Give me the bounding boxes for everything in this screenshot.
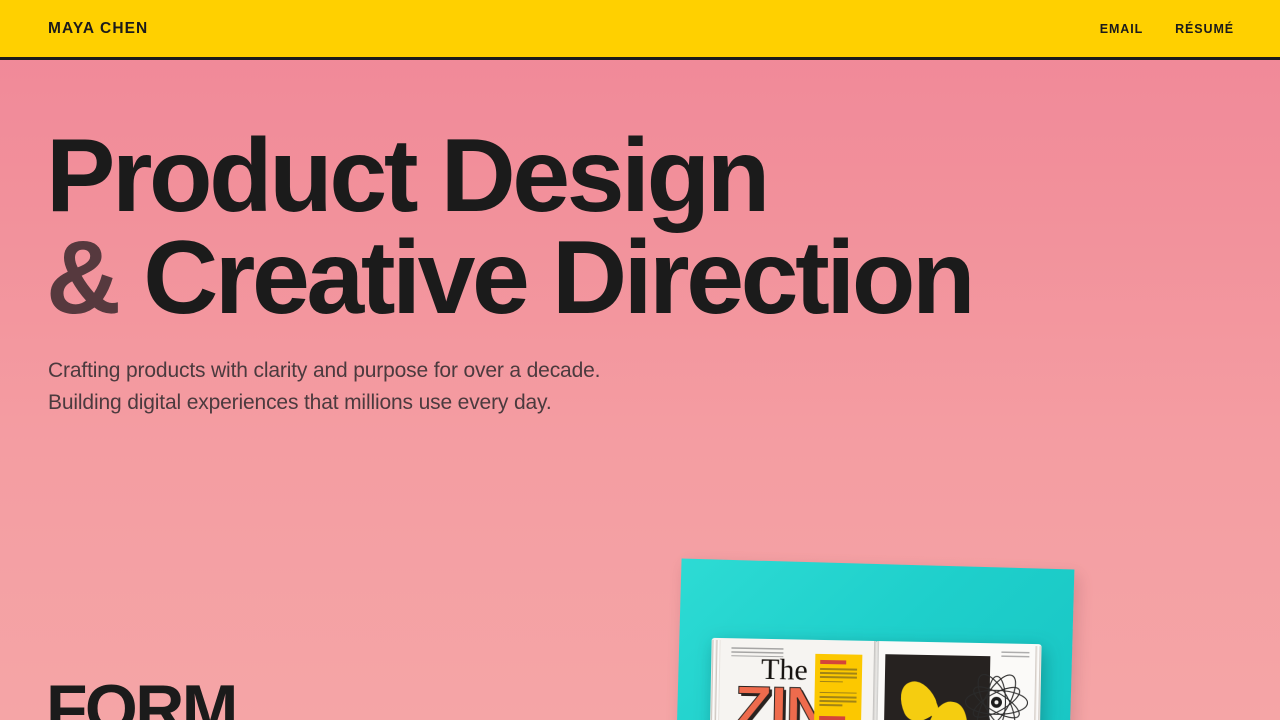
headline-line-2-text: Creative Direction xyxy=(118,220,972,336)
magazine-right-page xyxy=(873,641,1041,720)
brand-logo[interactable]: MAYA CHEN xyxy=(48,20,148,38)
right-page-corner-lines xyxy=(1001,651,1029,660)
section-heading-form: FORM xyxy=(46,675,236,720)
headline-ampersand: & xyxy=(46,220,118,336)
atom-diagram-icon xyxy=(962,671,1031,720)
left-page-yellow-column xyxy=(813,654,863,720)
magazine-left-page: The ZIN xyxy=(708,638,876,720)
headline-line-1: Product Design xyxy=(46,126,972,228)
page-edge-right xyxy=(1030,646,1041,720)
nav-link-email[interactable]: EMAIL xyxy=(1100,22,1143,36)
nav-links: EMAIL RÉSUMÉ xyxy=(1100,22,1234,36)
open-magazine: The ZIN xyxy=(708,638,1041,720)
hero-subtitle-line-2: Building digital experiences that millio… xyxy=(48,387,600,419)
hero-subtitle-line-1: Crafting products with clarity and purpo… xyxy=(48,355,600,387)
yellow-column-headline xyxy=(820,660,846,664)
portfolio-landing-page: MAYA CHEN EMAIL RÉSUMÉ Product Design & … xyxy=(0,0,1280,720)
hero-photo-magazine: The ZIN xyxy=(660,548,1090,720)
page-title: Product Design & Creative Direction xyxy=(46,126,972,330)
nav-link-resume[interactable]: RÉSUMÉ xyxy=(1175,22,1234,36)
headline-line-2: & Creative Direction xyxy=(46,228,972,330)
top-navigation-bar: MAYA CHEN EMAIL RÉSUMÉ xyxy=(0,0,1280,60)
hero-subtitle: Crafting products with clarity and purpo… xyxy=(48,355,600,419)
